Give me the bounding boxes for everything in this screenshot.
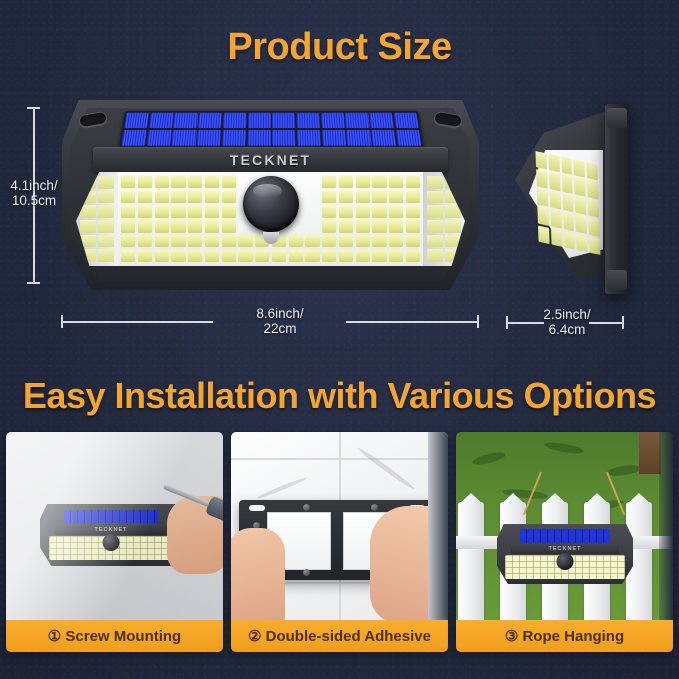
led-chip xyxy=(406,191,420,203)
led-chip xyxy=(587,181,598,200)
hand-holding-screwdriver xyxy=(167,496,223,574)
led-chip xyxy=(238,250,252,262)
solar-cell xyxy=(394,113,422,146)
width-dimension-line-right xyxy=(346,321,478,323)
led-chip xyxy=(98,191,114,204)
depth-dimension-inch: 2.5inch/ xyxy=(531,307,603,322)
width-dimension-cap-left xyxy=(61,315,63,328)
width-dimension-cap-right xyxy=(477,315,479,328)
side-mount-bracket xyxy=(605,104,629,294)
led-chip xyxy=(445,205,461,218)
led-chip xyxy=(205,176,219,188)
screwdriver-handle xyxy=(205,496,223,530)
depth-dimension-cap-left xyxy=(506,316,508,329)
led-chip xyxy=(80,220,96,233)
installation-panel-rope-hanging[interactable]: TECKNET ③ Rope Hanging xyxy=(456,432,673,652)
led-chip xyxy=(339,191,353,203)
led-chip xyxy=(427,191,443,204)
led-chip xyxy=(98,176,114,189)
led-chip xyxy=(138,176,152,188)
led-chip xyxy=(98,220,114,233)
caption-screw-mounting: ① Screw Mounting xyxy=(6,620,223,652)
led-chip xyxy=(427,249,443,262)
height-dimension-cap-top xyxy=(27,107,40,109)
led-chip xyxy=(588,199,599,218)
led-chip xyxy=(222,235,236,247)
photo-edge-shade xyxy=(428,432,448,620)
led-chip xyxy=(289,235,303,247)
led-chip xyxy=(576,233,587,252)
led-chip xyxy=(188,220,202,232)
led-chip xyxy=(406,235,420,247)
led-panel-region xyxy=(76,172,465,266)
led-chip xyxy=(339,250,353,262)
height-dimension-inch: 4.1inch/ xyxy=(0,178,68,193)
led-chip xyxy=(322,235,336,247)
led-chip xyxy=(138,206,152,218)
led-chip xyxy=(171,250,185,262)
led-chip xyxy=(537,207,548,226)
led-side-wing-left xyxy=(76,172,118,266)
led-chip xyxy=(121,176,135,188)
led-chip xyxy=(564,231,575,250)
led-chip xyxy=(574,159,585,178)
led-chip xyxy=(563,212,574,231)
screwdriver-icon xyxy=(162,482,223,523)
led-chip xyxy=(589,236,600,255)
led-chip xyxy=(356,250,370,262)
led-chip xyxy=(406,220,420,232)
led-chip xyxy=(339,206,353,218)
led-chip xyxy=(356,176,370,188)
solar-cell xyxy=(247,113,271,146)
led-chip xyxy=(427,235,443,248)
led-chip xyxy=(372,250,386,262)
caption-double-sided-adhesive: ② Double-sided Adhesive xyxy=(231,620,448,652)
solar-cell xyxy=(345,113,371,146)
led-chip xyxy=(548,154,559,173)
mini-solar-panel xyxy=(64,510,158,524)
led-chip xyxy=(389,250,403,262)
led-chip xyxy=(155,191,169,203)
led-chip xyxy=(427,176,443,189)
mini-solar-panel-rope xyxy=(520,529,610,542)
page-title-easy-installation: Easy Installation with Various Options xyxy=(0,375,679,417)
mini-brand-text: TECKNET xyxy=(54,524,168,535)
solar-cell xyxy=(321,113,346,146)
marble-vein-2 xyxy=(256,476,308,500)
led-chip xyxy=(372,191,386,203)
brand-bar: TECKNET xyxy=(93,147,448,172)
installation-panel-double-sided-adhesive[interactable]: ② Double-sided Adhesive xyxy=(231,432,448,652)
led-chip xyxy=(289,250,303,262)
led-chip xyxy=(155,206,169,218)
led-chip xyxy=(389,220,403,232)
led-chip xyxy=(322,176,336,188)
led-chip xyxy=(188,176,202,188)
height-dimension-label: 4.1inch/ 10.5cm xyxy=(0,178,68,208)
product-side-view xyxy=(515,104,637,294)
mini-product-screw: TECKNET xyxy=(40,504,182,566)
hand-left xyxy=(231,528,285,620)
led-chip xyxy=(550,209,561,228)
led-chip xyxy=(536,170,547,189)
led-chip xyxy=(372,235,386,247)
led-chip xyxy=(121,235,135,247)
led-chip xyxy=(389,206,403,218)
led-chip xyxy=(576,215,587,234)
grass-tuft-3 xyxy=(606,464,643,478)
led-chip xyxy=(188,191,202,203)
fence-post-right xyxy=(639,432,661,474)
grass-tuft-2 xyxy=(544,441,585,456)
led-chip xyxy=(272,250,286,262)
led-chip xyxy=(98,235,114,248)
led-chip xyxy=(389,176,403,188)
led-chip xyxy=(222,206,236,218)
product-front-view: TECKNET xyxy=(62,100,479,290)
photo-rope-hanging: TECKNET xyxy=(456,432,673,620)
led-chip xyxy=(445,191,461,204)
bracket-slot-left xyxy=(249,505,265,511)
led-chip xyxy=(322,250,336,262)
led-chip xyxy=(575,196,586,215)
led-chip xyxy=(121,206,135,218)
led-chip xyxy=(537,188,548,207)
led-chip xyxy=(121,250,135,262)
led-chip xyxy=(255,250,269,262)
led-chip xyxy=(339,176,353,188)
solar-cell xyxy=(147,113,174,146)
led-chip xyxy=(538,225,549,244)
depth-dimension-label: 2.5inch/ 6.4cm xyxy=(531,307,603,337)
led-chip xyxy=(188,206,202,218)
page-title-product-size: Product Size xyxy=(0,26,679,69)
led-chip xyxy=(121,220,135,232)
screwdriver-shaft xyxy=(163,484,213,508)
led-chip xyxy=(445,249,461,262)
solar-panel xyxy=(119,111,424,148)
photo-edge-shade-rope xyxy=(659,432,673,620)
width-dimension-line-left xyxy=(61,321,213,323)
width-dimension-metric: 22cm xyxy=(214,321,346,336)
solar-cell xyxy=(222,113,246,146)
infographic-canvas: Product Size 4.1inch/ 10.5cm 8.6inch/ 22… xyxy=(0,0,679,679)
mini-product-rope: TECKNET xyxy=(497,524,633,584)
motion-sensor xyxy=(243,176,299,232)
led-chip xyxy=(445,220,461,233)
installation-panel-screw-mounting[interactable]: TECKNET ① Screw Mounting xyxy=(6,432,223,652)
led-chip xyxy=(427,220,443,233)
led-chip xyxy=(80,235,96,248)
led-chip xyxy=(222,220,236,232)
led-chip xyxy=(356,235,370,247)
led-chip xyxy=(121,191,135,203)
led-chip xyxy=(171,235,185,247)
led-chip xyxy=(305,235,319,247)
led-chip xyxy=(372,176,386,188)
led-chip xyxy=(205,206,219,218)
led-chip xyxy=(171,176,185,188)
led-chip xyxy=(322,220,336,232)
led-chip xyxy=(589,218,600,237)
led-chip xyxy=(445,176,461,189)
led-chip xyxy=(205,250,219,262)
width-dimension-inch: 8.6inch/ xyxy=(214,306,346,321)
depth-dimension-cap-right xyxy=(622,316,624,329)
led-side-wing-right xyxy=(423,172,465,266)
led-chip xyxy=(561,156,572,175)
led-chip xyxy=(535,151,546,170)
led-chip xyxy=(98,249,114,262)
led-chip xyxy=(372,206,386,218)
solar-cell xyxy=(369,113,396,146)
led-chip xyxy=(80,191,96,204)
led-chip xyxy=(339,220,353,232)
led-chip xyxy=(155,176,169,188)
led-chip xyxy=(80,249,96,262)
side-led-grid xyxy=(535,151,600,255)
bracket-screw-hole-2 xyxy=(371,504,378,511)
led-chip xyxy=(356,191,370,203)
led-chip xyxy=(427,205,443,218)
led-chip xyxy=(80,176,96,189)
led-chip xyxy=(562,175,573,194)
led-chip xyxy=(322,191,336,203)
depth-dimension-metric: 6.4cm xyxy=(531,322,603,337)
led-chip xyxy=(98,205,114,218)
led-row xyxy=(121,250,420,262)
solar-cell xyxy=(172,113,198,146)
led-wing-grid-left xyxy=(76,172,118,266)
led-chip xyxy=(222,176,236,188)
pir-dome-icon xyxy=(243,176,299,232)
led-chip xyxy=(171,206,185,218)
brand-logo-text: TECKNET xyxy=(230,152,312,168)
grass-tuft-1 xyxy=(471,450,506,467)
bracket-knob-top xyxy=(607,108,627,128)
led-chip xyxy=(138,220,152,232)
led-chip xyxy=(339,235,353,247)
solar-cell xyxy=(197,113,222,146)
led-chip xyxy=(445,235,461,248)
led-chip xyxy=(205,191,219,203)
photo-screw-mounting: TECKNET xyxy=(6,432,223,620)
led-chip xyxy=(406,176,420,188)
led-chip xyxy=(171,220,185,232)
height-dimension-cap-bottom xyxy=(27,282,40,284)
led-chip xyxy=(171,191,185,203)
led-chip xyxy=(406,206,420,218)
bracket-screw-hole-1 xyxy=(303,504,310,511)
installation-options-row: TECKNET ① Screw Mounting xyxy=(6,432,673,652)
mini-motion-sensor xyxy=(103,534,120,551)
led-wing-grid-right xyxy=(423,172,465,266)
led-chip xyxy=(587,162,598,181)
led-chip xyxy=(205,235,219,247)
mini-led-grid xyxy=(49,536,174,560)
bracket-knob-bottom xyxy=(607,270,627,290)
height-dimension-metric: 10.5cm xyxy=(0,193,68,208)
solar-cell xyxy=(296,113,320,146)
led-chip xyxy=(222,250,236,262)
led-chip xyxy=(155,220,169,232)
led-chip xyxy=(356,206,370,218)
led-chip xyxy=(205,220,219,232)
led-chip xyxy=(550,191,561,210)
led-chip xyxy=(562,194,573,213)
solar-cell xyxy=(121,113,149,146)
led-chip xyxy=(574,178,585,197)
led-chip xyxy=(322,206,336,218)
led-chip xyxy=(549,172,560,191)
led-chip xyxy=(155,235,169,247)
caption-rope-hanging: ③ Rope Hanging xyxy=(456,620,673,652)
led-chip xyxy=(138,191,152,203)
led-chip xyxy=(188,250,202,262)
led-chip xyxy=(356,220,370,232)
led-chip xyxy=(155,250,169,262)
led-chip xyxy=(372,220,386,232)
led-chip xyxy=(80,205,96,218)
mini-motion-sensor-rope xyxy=(557,553,574,570)
photo-double-sided-adhesive xyxy=(231,432,448,620)
led-chip xyxy=(188,235,202,247)
led-chip xyxy=(389,235,403,247)
led-chip xyxy=(138,235,152,247)
led-chip xyxy=(138,250,152,262)
led-chip xyxy=(222,191,236,203)
led-chip xyxy=(305,250,319,262)
led-chip xyxy=(551,228,562,247)
bracket-screw-hole-3 xyxy=(303,569,310,576)
led-main-panel xyxy=(118,172,423,266)
marble-vein-1 xyxy=(356,446,416,491)
solar-cell xyxy=(272,113,296,146)
led-chip xyxy=(406,250,420,262)
led-chip xyxy=(238,235,252,247)
fence-picket-1 xyxy=(458,502,484,620)
width-dimension-label: 8.6inch/ 22cm xyxy=(214,306,346,336)
led-chip xyxy=(389,191,403,203)
